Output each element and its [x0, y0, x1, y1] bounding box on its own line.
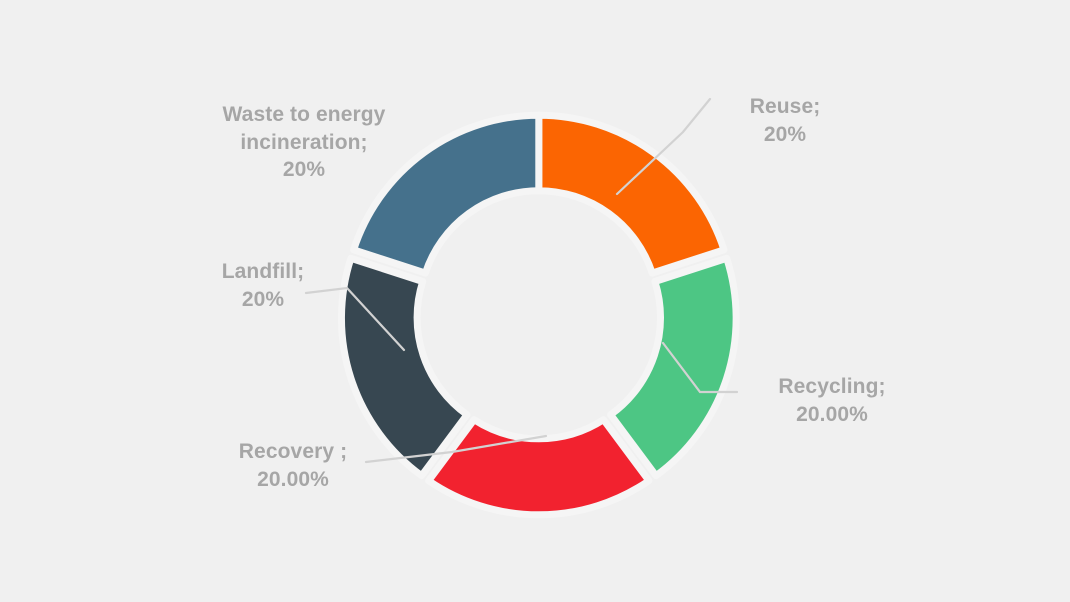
slice-label-reuse: Reuse; 20% [700, 93, 870, 148]
slice-label-recycling: Recycling; 20.00% [742, 373, 922, 428]
slice-label-recovery: Recovery ; 20.00% [205, 438, 381, 493]
slice-label-waste-to-energy-incineration: Waste to energy incineration; 20% [196, 101, 412, 184]
slice-recovery[interactable] [429, 420, 649, 515]
slice-reuse[interactable] [539, 115, 724, 273]
slice-recycling[interactable] [611, 258, 737, 475]
donut-chart: Waste to energy incineration; 20% Reuse;… [0, 0, 1070, 602]
slice-label-landfill: Landfill; 20% [190, 258, 336, 313]
donut-chart-svg [0, 0, 1070, 602]
